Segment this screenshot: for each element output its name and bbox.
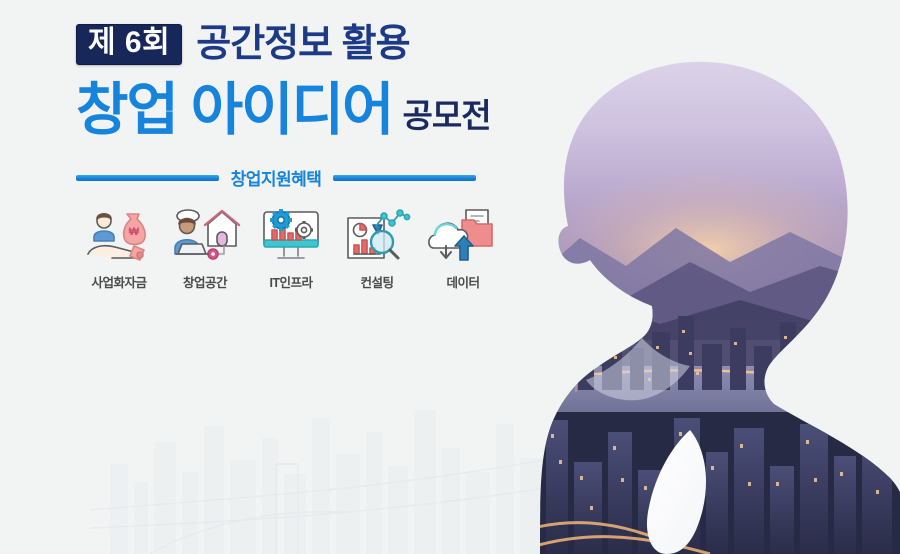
benefit-item-funding: ₩ 사업화자금 (76, 204, 162, 291)
benefit-item-it: IT인프라 (248, 204, 334, 291)
edition-badge: 제 6회 (76, 24, 182, 65)
benefit-label-consulting: 컨설팅 (360, 272, 393, 291)
benefit-item-consulting: 컨설팅 (334, 204, 420, 291)
benefits-list: ₩ 사업화자금 (76, 204, 506, 291)
svg-text:₩: ₩ (129, 226, 140, 238)
report-magnifier-graph-icon (340, 204, 414, 266)
divider-rule-right (333, 175, 476, 181)
cloud-folder-sync-icon (426, 204, 500, 266)
benefits-heading: 창업지원혜택 (231, 165, 322, 190)
benefit-item-space: 창업공간 (162, 204, 248, 291)
benefit-label-it: IT인프라 (269, 272, 312, 291)
benefit-label-data: 데이터 (446, 272, 479, 291)
headline-line-2-secondary: 공모전 (402, 99, 490, 132)
monitor-gears-chart-icon (254, 204, 328, 266)
headline-line-2-primary: 창업 아이디어 (76, 82, 392, 139)
divider-rule-left (76, 175, 219, 181)
benefit-item-data: 데이터 (420, 204, 506, 291)
benefit-label-funding: 사업화자금 (91, 272, 146, 291)
person-laptop-house-icon (168, 204, 242, 266)
headline-line-1: 공간정보 활용 (196, 25, 409, 63)
benefits-heading-row: 창업지원혜택 (76, 165, 476, 190)
promo-banner: 제 6회 공간정보 활용 창업 아이디어 공모전 창업지원혜택 ₩ (0, 0, 900, 554)
copy-block: 제 6회 공간정보 활용 창업 아이디어 공모전 창업지원혜택 ₩ (0, 0, 600, 291)
headline-row-1: 제 6회 공간정보 활용 (76, 18, 600, 70)
hand-money-bag-icon: ₩ (82, 204, 156, 266)
benefit-label-space: 창업공간 (183, 272, 227, 291)
headline-row-2: 창업 아이디어 공모전 (76, 82, 600, 139)
